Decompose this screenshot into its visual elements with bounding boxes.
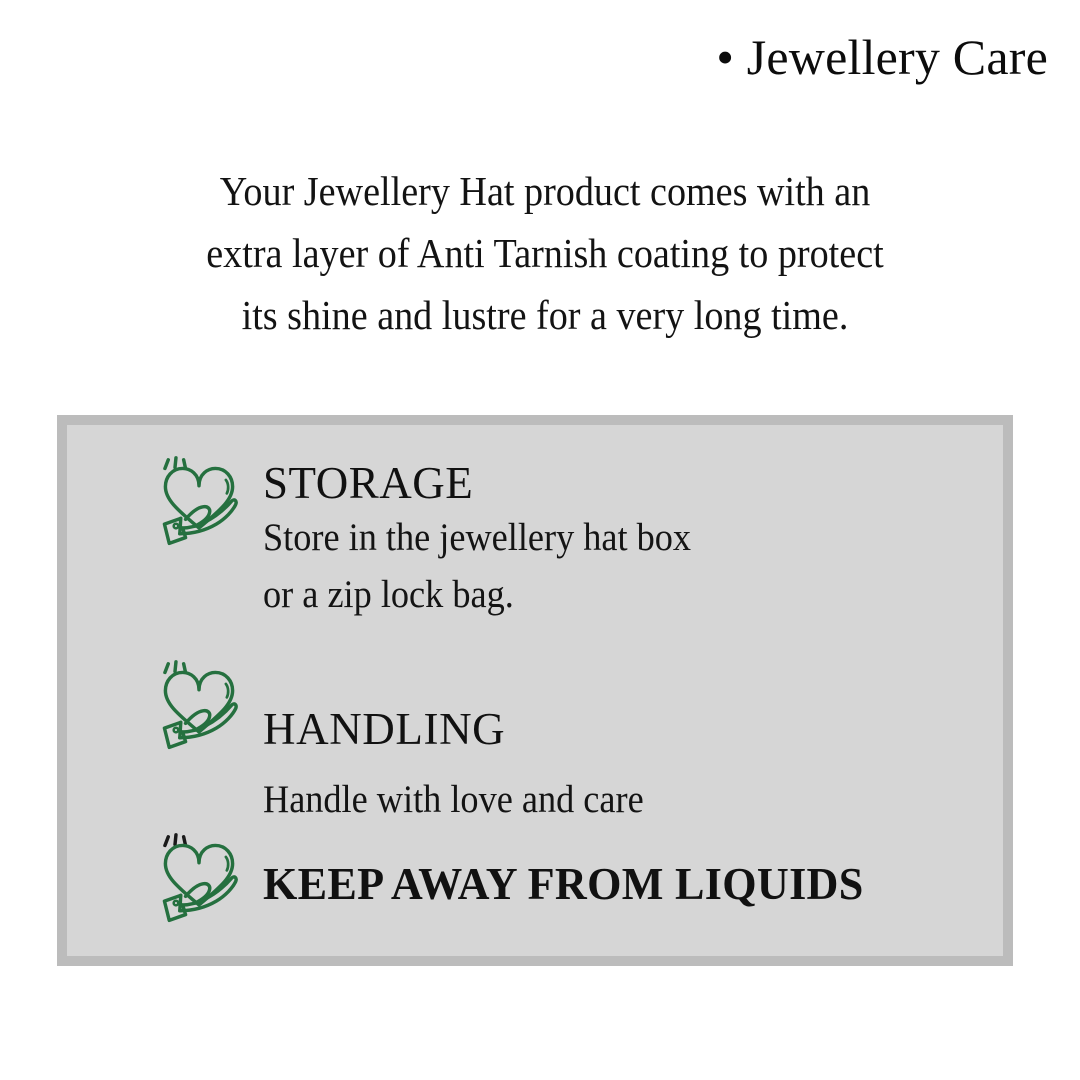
hand-holding-heart-icon — [151, 659, 247, 755]
hand-holding-heart-icon — [151, 832, 247, 928]
intro-line: its shine and lustre for a very long tim… — [94, 284, 996, 346]
care-item-body-line: Store in the jewellery hat box — [263, 509, 691, 566]
care-item-storage: STORAGE Store in the jewellery hat box o… — [151, 455, 723, 623]
care-item-heading: STORAGE — [263, 457, 723, 509]
care-instructions-list: STORAGE Store in the jewellery hat box o… — [67, 425, 1003, 956]
hand-holding-heart-icon — [151, 455, 247, 551]
care-item-text: HANDLING Handle with love and care — [263, 657, 672, 828]
care-item-text: KEEP AWAY FROM LIQUIDS — [263, 832, 889, 910]
page-title: • Jewellery Care — [0, 30, 1048, 85]
care-item-body-line: or a zip lock bag. — [263, 566, 691, 623]
care-instructions-panel: STORAGE Store in the jewellery hat box o… — [57, 415, 1013, 966]
care-item-text: STORAGE Store in the jewellery hat box o… — [263, 455, 723, 623]
intro-line: extra layer of Anti Tarnish coating to p… — [94, 222, 996, 284]
care-item-heading: HANDLING — [263, 659, 672, 755]
care-item-keep-away-from-liquids: KEEP AWAY FROM LIQUIDS — [151, 832, 889, 928]
care-item-handling: HANDLING Handle with love and care — [151, 657, 672, 828]
page-header: • Jewellery Care — [0, 30, 1048, 85]
intro-paragraph: Your Jewellery Hat product comes with an… — [60, 160, 1030, 346]
intro-line: Your Jewellery Hat product comes with an — [94, 160, 996, 222]
care-item-heading: KEEP AWAY FROM LIQUIDS — [263, 834, 864, 910]
care-item-body-line: Handle with love and care — [263, 755, 644, 828]
